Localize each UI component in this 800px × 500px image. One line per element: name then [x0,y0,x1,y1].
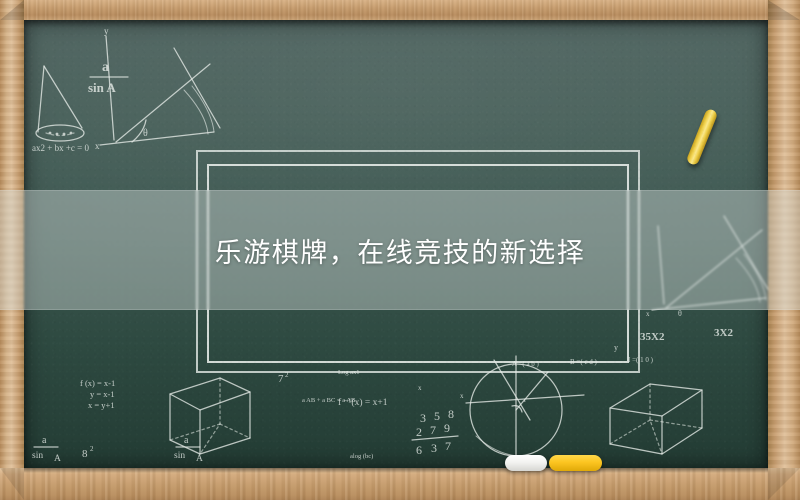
svg-text:x: x [418,384,422,392]
svg-text:A: A [54,454,61,464]
equation-fx-3: x = y+1 [88,400,115,410]
svg-text:5: 5 [434,409,440,423]
frame-corner-top-right [768,0,800,20]
fraction-a-over-sinA-topleft: a sin A [88,60,128,95]
equation-fx-2: y = x-1 [90,389,115,399]
svg-text:6: 6 [416,443,422,457]
label-alog-bc: alog (bc) [350,453,373,460]
white-chalk-stick-on-ledge [505,455,547,471]
label-eight-exponent: 2 [90,445,94,453]
label-mult-3x2: 3X2 [714,327,733,339]
svg-text:7: 7 [445,439,451,453]
svg-text:a: a [102,60,109,75]
title-container: 乐游棋牌，在线竞技的新选择 [0,190,800,310]
label-eight-squared: 8 [82,448,88,460]
cube-left-wireframe [170,378,250,454]
page-title: 乐游棋牌，在线竞技的新选择 [215,231,586,270]
axis-angle-diagram-topleft [100,36,220,145]
svg-text:x: x [460,392,464,400]
equation-inverse-fx: f ⁻¹(x) = x+1 [338,397,388,408]
frame-corner-bottom-right [768,468,800,500]
svg-text:3: 3 [431,441,437,455]
svg-text:θ: θ [678,309,682,318]
svg-text:9: 9 [444,421,450,435]
label-axis-y-topleft: y [104,26,109,36]
label-mult-35x2: 35X2 [640,331,665,343]
cone-drawing [36,66,84,141]
svg-text:sin A: sin A [88,80,116,95]
frame-corner-bottom-left [0,468,24,500]
fraction-a-over-sinA-bl1: a sin A [32,435,61,464]
svg-text:7: 7 [430,423,436,437]
svg-text:3: 3 [420,411,426,425]
svg-text:x: x [646,310,650,318]
label-seven-squared: 7 [278,373,284,385]
svg-text:2: 2 [416,425,422,439]
ledge-shadow [24,468,768,473]
svg-text:sin: sin [174,451,185,461]
label-angle-theta: θ [143,128,148,139]
long-division-digits: 3 5 8 2 7 9 6 3 7 [412,407,458,457]
equation-quadratic: ax2 + bx +c = 0 [32,143,89,153]
svg-text:A: A [196,454,203,464]
svg-text:8: 8 [448,407,454,421]
svg-text:a: a [42,435,47,446]
frame-corner-top-left [0,0,24,20]
frame-top [0,0,800,20]
cube-right-wireframe [610,384,702,454]
chalkboard-banner: y x θ a sin A ax2 + bx +c = 0 f (x) = x-… [0,0,800,500]
yellow-chalk-stick-on-ledge [549,455,602,471]
svg-text:a: a [184,435,189,446]
equation-fx-1: f (x) = x-1 [80,378,115,388]
fraction-a-over-sinA-bl2: a sin A [174,435,203,464]
label-axis-x-topleft: x [95,141,100,151]
svg-text:sin: sin [32,451,43,461]
